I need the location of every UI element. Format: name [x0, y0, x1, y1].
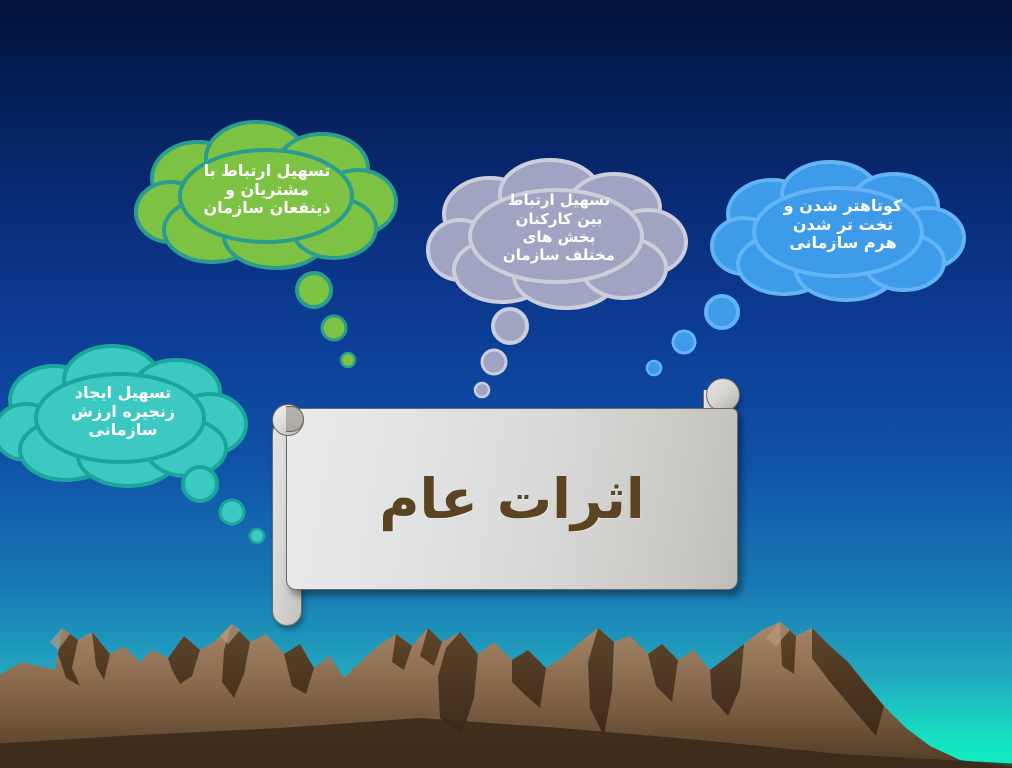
presentation-slide: تسهیل ارتباط با مشتریان و ذینفعان سازمان	[0, 0, 1012, 768]
page-title: اثرات عام	[287, 409, 737, 589]
scroll-banner[interactable]: اثرات عام	[266, 378, 746, 630]
scroll-right-curl	[706, 378, 740, 412]
cloud-bubbles-green	[297, 273, 355, 367]
cloud-shape-teal	[0, 344, 254, 604]
thought-cloud-teal[interactable]: تسهیل ایجاد زنجیره ارزش سازمانی	[0, 344, 254, 480]
thought-cloud-purple[interactable]: تسهیل ارتباط بین کارکنان بخش های مختلف س…	[428, 158, 690, 298]
thought-cloud-green[interactable]: تسهیل ارتباط با مشتریان و ذینفعان سازمان	[136, 120, 398, 260]
scroll-paper: اثرات عام	[286, 408, 738, 590]
cloud-shape-blue	[712, 160, 974, 420]
thought-cloud-blue[interactable]: کوتاهتر شدن و تخت تر شدن هرم سازمانی	[712, 160, 974, 290]
cloud-bubbles-teal	[183, 467, 264, 543]
